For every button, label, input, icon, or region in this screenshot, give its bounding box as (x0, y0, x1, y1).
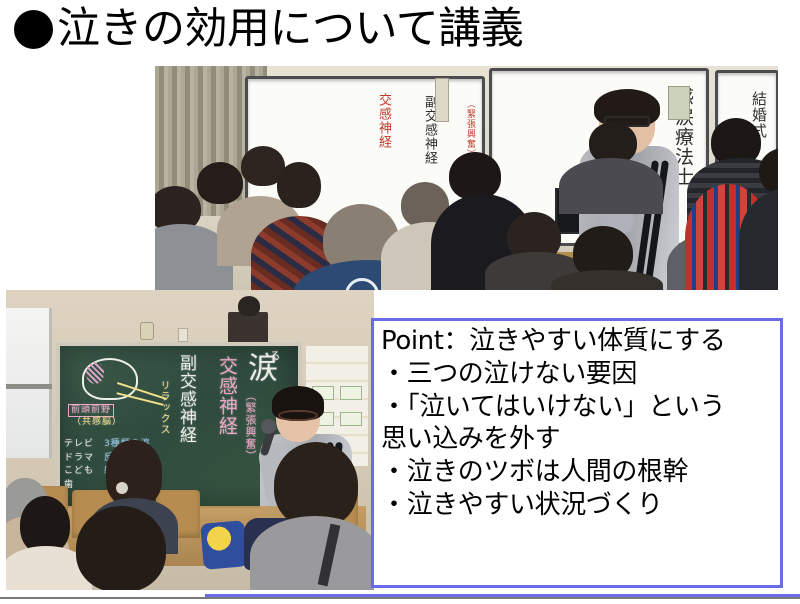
chalk-word-sympathetic: 交感神経 (217, 356, 236, 436)
point-line: ・「泣いてはいけない」という (381, 391, 778, 424)
chalk-word-parasympathetic: 副交感神経 (177, 354, 194, 444)
whiteboard-note-parasympathetic: 副交感神経 (422, 95, 436, 165)
point-line: 思い込みを外す (381, 423, 778, 456)
chalk-list-left: テレビ ドラマ こども 歯 (64, 438, 94, 492)
chalk-word-tension: （緊張興奮） (245, 390, 256, 462)
page-title-text: 泣きの効用について講義 (57, 8, 523, 51)
slide-canvas: 泣きの効用について講義 （緊張興奮） 副交感神経 交感神経 感涙療法士 涙活 結… (0, 0, 800, 604)
lecture-hall-photo: （緊張興奮） 副交感神経 交感神経 感涙療法士 涙活 結婚式 (155, 66, 778, 290)
student-shoulders (250, 516, 374, 590)
filled-circle-bullet-icon (14, 10, 53, 49)
teacher-glasses-icon (278, 410, 318, 421)
microphone-head (261, 419, 276, 434)
hair-tie (116, 482, 128, 494)
audience-head (449, 152, 501, 200)
audience-head (277, 162, 321, 208)
whiteboard-note-brain: （緊張興奮） (465, 99, 474, 159)
chalk-word-sub: る (269, 350, 280, 362)
chalk-word-relax: リラックス (158, 380, 168, 435)
point-text-box: Point：泣きやすい体質にする ・三つの泣けない要因 ・「泣いてはいけない」と… (371, 318, 783, 588)
wall-panel (435, 78, 449, 122)
point-line: ・三つの泣けない要因 (381, 358, 778, 391)
point-text-lines: Point：泣きやすい体質にする ・三つの泣けない要因 ・「泣いてはいけない」と… (374, 321, 780, 522)
footer-divider-rule (0, 597, 800, 599)
page-title: 泣きの効用について講義 (14, 8, 523, 51)
ceiling-speaker-horn (238, 296, 260, 316)
point-line: ・泣きやすい状況づくり (381, 489, 778, 522)
classroom-blackboard-photo: 涙 る 交感神経 副交感神経 リラックス （緊張興奮） 前頭前野 （共感脳） テ… (6, 290, 374, 590)
whiteboard-note-sympathetic: 交感神経 (376, 93, 390, 149)
chalk-box-empathy: （共感脳） (72, 418, 122, 427)
audience-head (197, 162, 243, 204)
chalk-box-prefrontal: 前頭前野 (68, 404, 114, 417)
chalk-brain-hatch (86, 362, 104, 384)
wall-switch (178, 328, 188, 342)
wall-fixture (140, 322, 154, 340)
student-bag (200, 520, 248, 570)
point-line: Point：泣きやすい体質にする (381, 325, 778, 358)
student-head (76, 506, 166, 590)
point-line: ・泣きのツボは人間の根幹 (381, 456, 778, 489)
student-head-ponytail (106, 440, 162, 506)
audience-shoulders (559, 158, 663, 214)
classroom-window (6, 308, 52, 458)
window-frame-bar (6, 384, 52, 389)
